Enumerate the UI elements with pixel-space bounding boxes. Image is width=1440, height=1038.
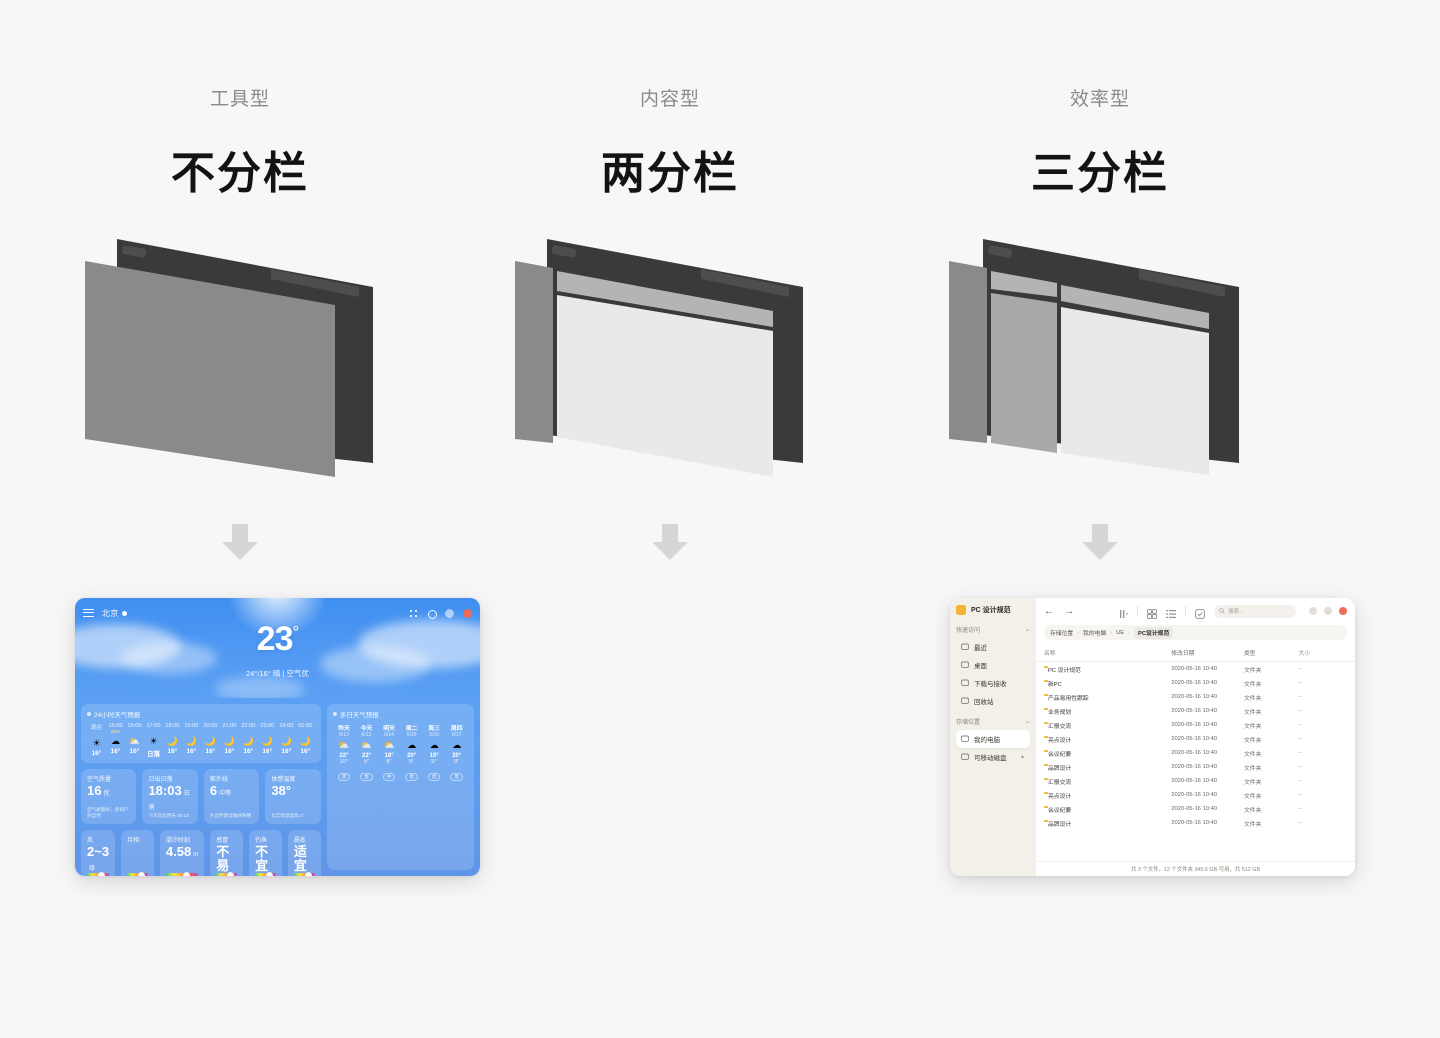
weather-tile[interactable]: 紫外线6中等外出时建议做好防晒: [204, 769, 259, 824]
weather-glyph-icon: 🌙: [163, 737, 182, 746]
weather-glyph-icon: 🌙: [182, 737, 201, 746]
daily-aqi: 优: [360, 773, 373, 781]
hourly-item: 15:0065%☁16°: [106, 723, 125, 758]
hourly-precip: [258, 729, 277, 734]
hourly-precip: [277, 729, 296, 734]
tile-title: 钓鱼: [255, 835, 276, 844]
hourly-precip: [144, 729, 163, 734]
daily-name: 昨天: [333, 723, 356, 732]
hourly-temp: 日落: [144, 748, 163, 758]
tile-unit: 优: [103, 791, 109, 797]
hourly-time: 15:00: [106, 723, 125, 729]
hourly-time: 01:00: [296, 723, 315, 729]
weather-tile[interactable]: 晨练适宜: [288, 830, 321, 876]
tile-value: 4.58m: [166, 845, 198, 859]
two-pane-window-3d-svg: [505, 225, 835, 505]
hourly-item: 22:00🌙16°: [239, 723, 258, 758]
hourly-precip: [239, 729, 258, 734]
column-one-pane: 工具型 不分栏: [0, 0, 480, 1038]
gear-icon[interactable]: [427, 609, 436, 618]
tile-value: 38°: [271, 784, 314, 798]
daily-name: 今天: [355, 723, 378, 732]
level-bar: [127, 873, 148, 876]
grid-icon[interactable]: [409, 609, 418, 618]
weather-body: 24小时天气预报 现在☀16°15:0065%☁16°16:00⛅16°17:0…: [75, 698, 480, 876]
hourly-item: 16:00⛅16°: [125, 723, 144, 758]
tile-title: 风: [87, 835, 109, 844]
hourly-forecast-card[interactable]: 24小时天气预报 现在☀16°15:0065%☁16°16:00⛅16°17:0…: [81, 704, 321, 763]
hourly-temp: 16°: [296, 748, 315, 755]
daily-name: 周二: [400, 723, 423, 732]
weather-tiles-row2: 风2~3级月相潮汐时刻4.58m感冒不易钓鱼不宜晨练适宜: [81, 830, 321, 876]
hourly-temp: 16°: [125, 748, 144, 755]
daily-low: 8°: [378, 759, 401, 765]
tile-title: 紫外线: [210, 774, 253, 783]
weather-tile[interactable]: 潮汐时刻4.58m: [160, 830, 204, 876]
weather-glyph-icon: 🌙: [296, 737, 315, 746]
hourly-time: 16:00: [125, 723, 144, 729]
level-bar: [294, 873, 315, 876]
daily-name: 明天: [378, 723, 401, 732]
weather-tile[interactable]: 感冒不易: [210, 830, 243, 876]
hourly-item: 23:00🌙16°: [258, 723, 277, 758]
headline-2: 两分栏: [430, 137, 910, 201]
hourly-temp: 16°: [277, 748, 296, 755]
hourly-item: 20:00🌙16°: [201, 723, 220, 758]
tile-unit: 日落: [148, 791, 189, 811]
hourly-temp: 16°: [106, 748, 125, 755]
tile-value: 适宜: [294, 845, 315, 874]
down-arrow-icon: [646, 518, 694, 566]
hourly-item: 01:00🌙16°: [296, 723, 315, 758]
hourly-precip: [163, 729, 182, 734]
weather-glyph-icon: 🌙: [277, 737, 296, 746]
weather-city-label: 北京: [102, 609, 119, 618]
arrow-one-pane: [0, 518, 480, 571]
hourly-time: 20:00: [201, 723, 220, 729]
weather-titlebar: 北京: [75, 605, 480, 621]
hourly-time: 24:00: [277, 723, 296, 729]
hourly-forecast-title: 24小时天气预报: [87, 709, 315, 719]
level-bar: [255, 873, 276, 876]
weather-tile[interactable]: 日出日落18:03日落下次日出明天 06:13: [142, 769, 197, 824]
weather-tile[interactable]: 钓鱼不宜: [249, 830, 282, 876]
daily-item: 周二6/15☁20°9°优: [400, 723, 423, 783]
column-three-pane: 效率型 三分栏 ‹: [860, 0, 1340, 1038]
minimize-button[interactable]: [445, 609, 454, 618]
hourly-item: 18:00🌙16°: [163, 723, 182, 758]
tile-footer: 外出时建议做好防晒: [210, 813, 253, 819]
kicker-label-3: 效率型: [860, 84, 1340, 111]
column-two-pane: 内容型 两分栏 PC 设计规范: [430, 0, 910, 1038]
page-root: 工具型 不分栏: [0, 0, 1440, 1038]
tile-value: 2~3级: [87, 845, 109, 874]
tile-footer: 空气质量好，多到户外自然: [87, 807, 130, 819]
weather-hero: 北京 23° 24°/16° 晴 | 空气优: [75, 598, 480, 698]
weather-tile[interactable]: 风2~3级: [81, 830, 115, 876]
tile-title: 潮汐时刻: [166, 835, 198, 844]
three-pane-window-3d-svg: [935, 225, 1265, 505]
down-arrow-icon: [1076, 518, 1124, 566]
tile-title: 月相: [127, 835, 148, 844]
hourly-precip: [296, 729, 315, 734]
daily-aqi: 优: [405, 773, 418, 781]
hourly-precip: [220, 729, 239, 734]
weather-summary: 24°/16° 晴 | 空气优: [75, 668, 480, 679]
hourly-temp: 16°: [258, 748, 277, 755]
weather-glyph-icon: 🌙: [239, 737, 258, 746]
daily-date: 6/15: [400, 732, 423, 738]
daily-aqi: 中: [383, 773, 396, 781]
tile-value: 16优: [87, 784, 130, 798]
hourly-temp: 16°: [87, 750, 106, 757]
degree-symbol: °: [293, 623, 299, 642]
hourly-precip: [87, 731, 106, 736]
hourly-item: 17:00☀日落: [144, 723, 163, 758]
hourly-item: 21:00🌙16°: [220, 723, 239, 758]
hourly-temp: 16°: [239, 748, 258, 755]
hourly-time: 现在: [87, 723, 106, 731]
weather-glyph-icon: ⛅: [355, 741, 378, 750]
tile-value: 18:03日落: [148, 784, 191, 813]
daily-date: 6/12: [333, 732, 356, 738]
weather-glyph-icon: ☁: [106, 737, 125, 746]
hourly-time: 18:00: [163, 723, 182, 729]
hourly-temp: 16°: [220, 748, 239, 755]
hourly-time: 21:00: [220, 723, 239, 729]
bullet-icon: [87, 712, 91, 716]
weather-glyph-icon: ⛅: [125, 737, 144, 746]
location-pin-icon: [122, 611, 127, 616]
weather-glyph-icon: ⛅: [333, 741, 356, 750]
weather-glyph-icon: 🌙: [220, 737, 239, 746]
close-button[interactable]: [463, 609, 472, 618]
tile-footer: 下次日出明天 06:13: [148, 813, 191, 819]
temperature-value: 23: [257, 620, 293, 658]
weather-glyph-icon: ☁: [400, 741, 423, 750]
weather-glyph-icon: ☀: [87, 739, 106, 748]
weather-glyph-icon: ☀: [144, 737, 163, 746]
arrow-three-pane: [860, 518, 1340, 571]
tile-title: 晨练: [294, 835, 315, 844]
tile-value: 6中等: [210, 784, 253, 798]
headline-1: 不分栏: [0, 137, 480, 201]
hourly-precip: 65%: [106, 729, 125, 734]
tile-title: 日出日落: [148, 774, 191, 783]
weather-app-window[interactable]: 北京 23° 24°/16° 晴 | 空气优: [75, 598, 480, 876]
hourly-item: 24:00🌙16°: [277, 723, 296, 758]
daily-low: 10°: [333, 759, 356, 765]
daily-item: 明天6/14⛅18°8°中: [378, 723, 401, 783]
daily-low: 9°: [400, 759, 423, 765]
illustration-two-pane: [430, 225, 910, 515]
daily-date: 6/13: [355, 732, 378, 738]
hourly-item: 19:00🌙16°: [182, 723, 201, 758]
hourly-time: 22:00: [239, 723, 258, 729]
daily-date: 6/14: [378, 732, 401, 738]
weather-glyph-icon: 🌙: [258, 737, 277, 746]
weather-temperature: 23°: [75, 622, 480, 656]
weather-glyph-icon: ⛅: [378, 741, 401, 750]
arrow-two-pane: [430, 518, 910, 571]
tile-unit: 中等: [219, 791, 231, 797]
level-bar: [87, 873, 109, 876]
tile-value: 不宜: [255, 845, 276, 874]
tile-title: 空气质量: [87, 774, 130, 783]
level-bar: [166, 873, 198, 876]
tile-unit: 级: [89, 866, 95, 872]
daily-item: 昨天6/12⛅22°10°优: [333, 723, 356, 783]
tile-title: 体感温度: [271, 774, 314, 783]
headline-3: 三分栏: [860, 137, 1340, 201]
hourly-precip: [201, 729, 220, 734]
hourly-time: 17:00: [144, 723, 163, 729]
kicker-label-1: 工具型: [0, 84, 480, 111]
close-button[interactable]: [1339, 607, 1347, 615]
weather-city[interactable]: 北京: [102, 608, 127, 619]
down-arrow-icon: [216, 518, 264, 566]
weather-tile[interactable]: 空气质量16优空气质量好，多到户外自然: [81, 769, 136, 824]
daily-aqi: 优: [338, 773, 351, 781]
tile-title: 感冒: [216, 835, 237, 844]
weather-glyph-icon: 🌙: [201, 737, 220, 746]
tile-unit: m: [193, 852, 198, 858]
weather-tiles-row1: 空气质量16优空气质量好，多到户外自然日出日落18:03日落下次日出明天 06:…: [81, 769, 321, 824]
hourly-time: 23:00: [258, 723, 277, 729]
weather-tile[interactable]: 体感温度38°比实际温度高 2°: [265, 769, 320, 824]
illustration-one-pane: [0, 225, 480, 515]
weather-tile[interactable]: 月相: [121, 830, 154, 876]
tile-footer: 比实际温度高 2°: [271, 813, 314, 819]
menu-icon[interactable]: [83, 609, 94, 618]
bullet-icon: [333, 712, 337, 716]
hourly-row: 现在☀16°15:0065%☁16°16:00⛅16°17:00☀日落18:00…: [87, 723, 315, 758]
daily-low: 5°: [355, 759, 378, 765]
window-controls: [409, 609, 472, 618]
hourly-precip: [182, 729, 201, 734]
hourly-temp: 16°: [163, 748, 182, 755]
hourly-item: 现在☀16°: [87, 723, 106, 758]
hourly-time: 19:00: [182, 723, 201, 729]
daily-item: 今天6/13⛅22°5°优: [355, 723, 378, 783]
level-bar: [216, 873, 237, 876]
hourly-precip: [125, 729, 144, 734]
hourly-temp: 16°: [201, 748, 220, 755]
kicker-label-2: 内容型: [430, 84, 910, 111]
one-pane-window-3d-svg: [75, 225, 405, 505]
hourly-temp: 16°: [182, 748, 201, 755]
illustration-three-pane: [860, 225, 1340, 515]
tile-value: 不易: [216, 845, 237, 874]
